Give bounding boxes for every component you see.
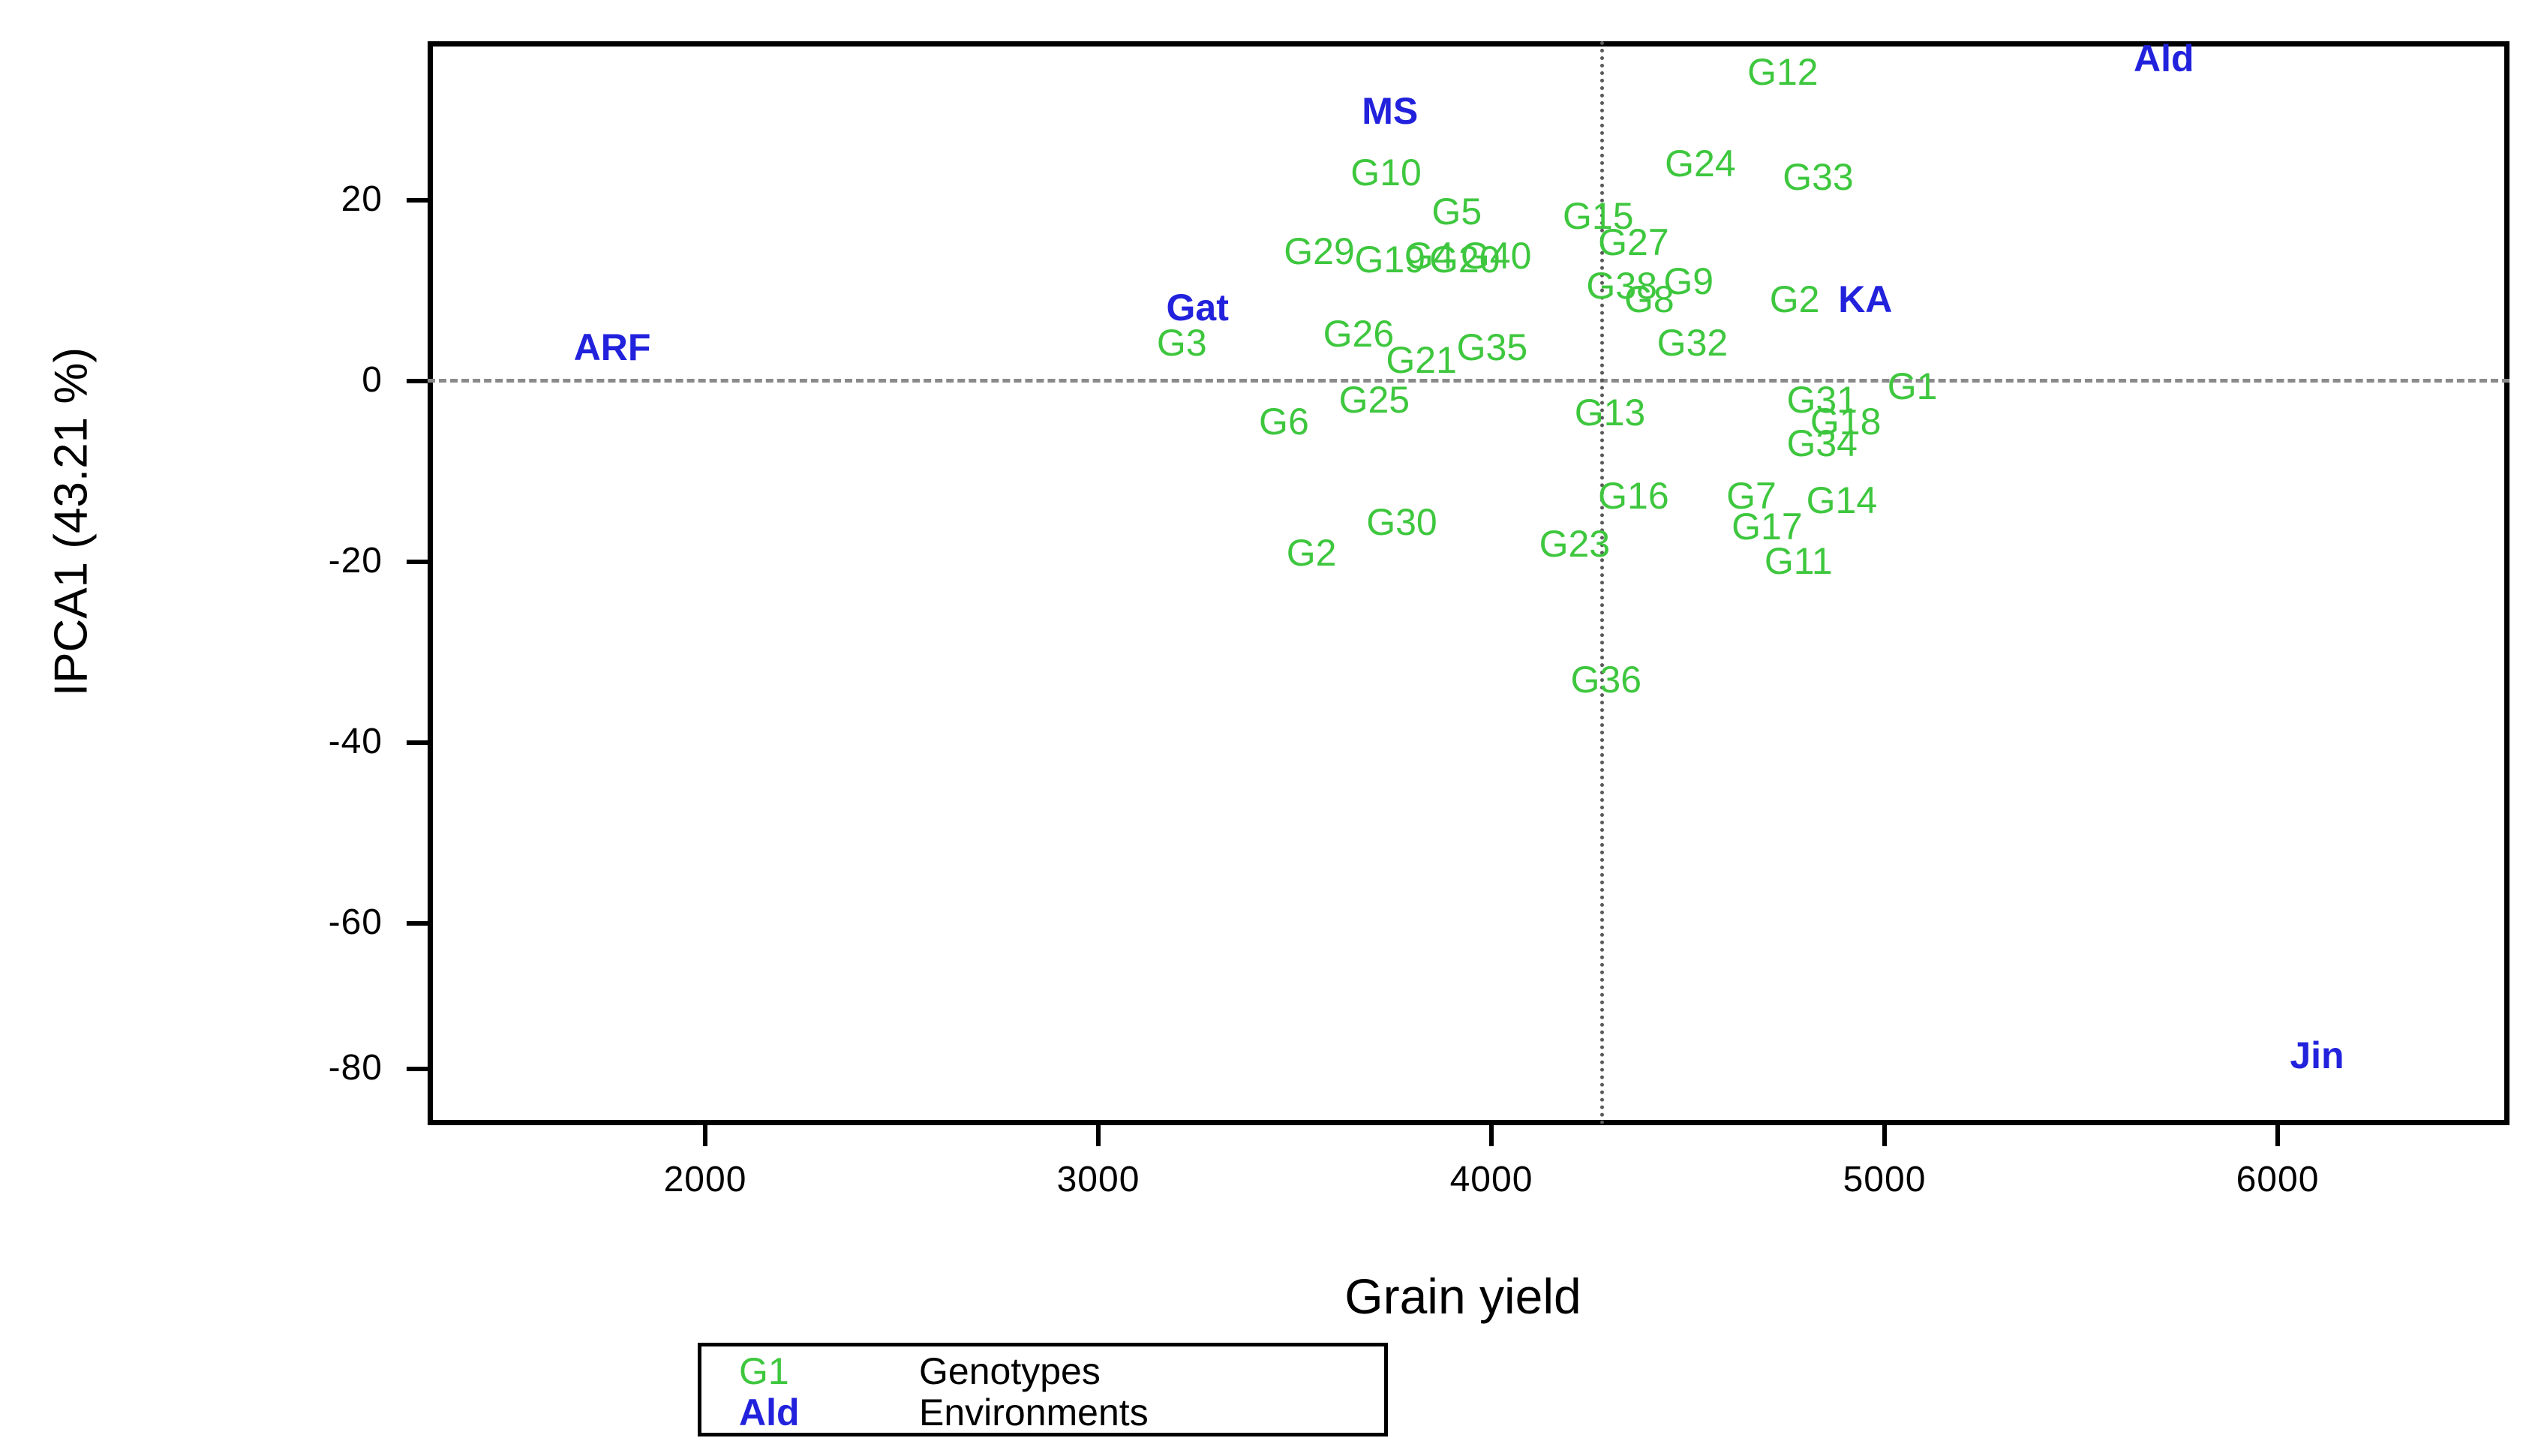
legend-label-environments: Environments [919, 1392, 1149, 1433]
x-tick-5000 [1882, 1125, 1887, 1146]
data-point-label-g33: G33 [1783, 158, 1854, 196]
data-point-label-ms: MS [1362, 92, 1418, 130]
y-tick-label-0: 0 [248, 359, 383, 401]
data-point-label-g13: G13 [1575, 394, 1646, 431]
data-point-label-g23: G23 [1539, 525, 1611, 563]
data-point-label-g5: G5 [1431, 193, 1482, 230]
data-point-label-g21: G21 [1386, 341, 1457, 379]
data-point-label-g1: G1 [1888, 368, 1938, 405]
data-point-label-g14: G14 [1807, 482, 1878, 519]
data-point-label-g30: G30 [1366, 503, 1437, 541]
data-point-label-g25: G25 [1339, 381, 1410, 419]
x-tick-label-4000: 4000 [1379, 1159, 1604, 1200]
y-tick-label-20: 20 [248, 179, 383, 220]
data-point-label-g34: G34 [1786, 425, 1858, 462]
data-point-label-g35: G35 [1457, 329, 1528, 366]
data-point-label-g17: G17 [1732, 508, 1803, 545]
data-point-label-g2: G2 [1770, 281, 1820, 318]
data-point-label-g32: G32 [1657, 324, 1729, 362]
data-point-label-g10: G10 [1350, 154, 1422, 191]
legend-label-genotypes: Genotypes [919, 1351, 1101, 1392]
legend-box: G1 Genotypes Ald Environments [698, 1343, 1388, 1436]
y-axis-title: IPCA1 (43.21 %) [45, 260, 98, 785]
data-point-label-g27: G27 [1598, 224, 1669, 261]
data-point-label-arf: ARF [574, 329, 651, 366]
y-tick-label-m60: -60 [248, 902, 383, 943]
x-axis-title: Grain yield [1125, 1268, 1801, 1325]
x-tick-6000 [2275, 1125, 2280, 1146]
data-point-label-g29: G29 [1284, 233, 1355, 270]
data-point-label-g9: G9 [1663, 263, 1714, 300]
y-tick-m80 [407, 1067, 428, 1071]
data-point-label-g12: G12 [1747, 53, 1819, 91]
legend-key-genotypes: G1 [739, 1351, 897, 1392]
data-point-label-jin: Jin [2290, 1037, 2344, 1074]
data-point-label-g26: G26 [1323, 315, 1395, 353]
data-point-label-g36: G36 [1570, 661, 1641, 698]
data-point-label-g24: G24 [1665, 145, 1736, 182]
data-point-label-g16: G16 [1598, 477, 1669, 515]
data-point-label-g3: G3 [1157, 324, 1207, 362]
y-tick-m40 [407, 740, 428, 745]
y-tick-label-m80: -80 [248, 1047, 383, 1088]
data-point-label-g2b: G2 [1287, 534, 1337, 572]
legend-key-environments: Ald [739, 1392, 897, 1433]
zero-horizontal-reference-line [428, 379, 2509, 383]
data-point-label-ald: Ald [2134, 40, 2194, 77]
x-tick-4000 [1489, 1125, 1494, 1146]
y-tick-m60 [407, 921, 428, 926]
data-point-label-g40: G40 [1461, 237, 1532, 275]
y-tick-0 [407, 379, 428, 383]
data-point-label-g11: G11 [1765, 542, 1833, 580]
y-tick-label-m40: -40 [248, 721, 383, 762]
x-tick-3000 [1096, 1125, 1101, 1146]
x-tick-label-6000: 6000 [2165, 1159, 2390, 1200]
ammi-biplot-figure: 20 0 -20 -40 -60 -80 2000 3000 4000 5000… [0, 0, 2535, 1456]
y-tick-20 [407, 198, 428, 203]
legend-row-environments: Ald Environments [701, 1392, 1384, 1433]
y-tick-label-m20: -20 [248, 540, 383, 581]
x-tick-label-5000: 5000 [1772, 1159, 1997, 1200]
data-point-label-ka: KA [1838, 281, 1892, 318]
data-point-label-g6: G6 [1259, 403, 1309, 440]
x-tick-2000 [703, 1125, 707, 1146]
x-tick-label-2000: 2000 [593, 1159, 818, 1200]
data-point-label-gat: Gat [1167, 289, 1229, 326]
y-tick-m20 [407, 560, 428, 564]
x-tick-label-3000: 3000 [986, 1159, 1211, 1200]
legend-row-genotypes: G1 Genotypes [701, 1351, 1384, 1392]
